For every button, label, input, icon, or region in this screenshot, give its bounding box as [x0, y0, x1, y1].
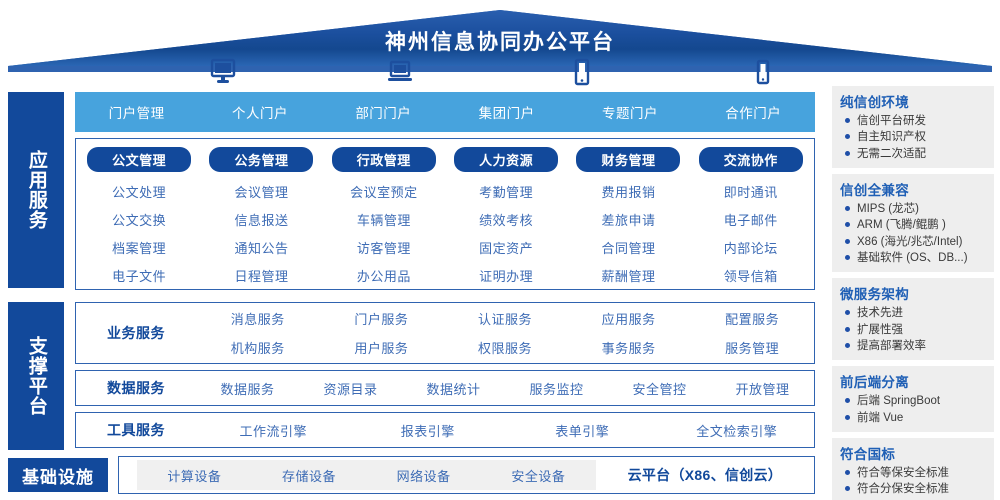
module-item[interactable]: 考勤管理 — [479, 179, 533, 207]
rail-infrastructure: 基础设施 — [8, 458, 108, 492]
rail-application-services: 应用服务 — [8, 92, 64, 288]
sidebar-card-pure-xinchuang: 纯信创环境 信创平台研发 自主知识产权 无需二次适配 — [832, 86, 994, 168]
bullet-icon — [845, 398, 850, 403]
module-header[interactable]: 公文管理 — [87, 147, 191, 172]
sidebar-item-label: 技术先进 — [857, 305, 903, 321]
sidebar-list-item: X86 (海光/兆芯/Intel) — [840, 234, 988, 250]
service-item[interactable]: 机构服务 — [196, 338, 320, 357]
module-item[interactable]: 会议管理 — [234, 179, 288, 207]
laptop-icon — [380, 58, 420, 90]
service-item[interactable]: 服务监控 — [505, 379, 608, 398]
module-column: 行政管理 会议室预定 车辆管理 访客管理 办公用品 — [323, 147, 445, 285]
application-modules-card: 公文管理 公文处理 公文交换 档案管理 电子文件 公务管理 会议管理 信息报送 … — [75, 138, 815, 290]
bullet-icon — [845, 118, 850, 123]
tool-services-label: 工具服务 — [76, 420, 196, 440]
feature-sidebar: 纯信创环境 信创平台研发 自主知识产权 无需二次适配 信创全兼容 MIPS (龙… — [832, 86, 994, 500]
sidebar-card-national-standard: 符合国标 符合等保安全标准 符合分保安全标准 — [832, 438, 994, 500]
portal-bar: 门户管理 个人门户 部门门户 集团门户 专题门户 合作门户 — [75, 92, 815, 132]
bullet-icon — [845, 206, 850, 211]
module-item[interactable]: 公文处理 — [112, 179, 166, 207]
module-item[interactable]: 即时通讯 — [724, 179, 778, 207]
module-column: 财务管理 费用报销 差旅申请 合同管理 薪酬管理 — [567, 147, 689, 285]
sidebar-list-item: 基础软件 (OS、DB...) — [840, 250, 988, 266]
sidebar-item-label: MIPS (龙芯) — [857, 201, 919, 217]
module-header[interactable]: 财务管理 — [576, 147, 680, 172]
service-item[interactable]: 应用服务 — [567, 309, 691, 328]
business-services-card: 业务服务 消息服务 门户服务 认证服务 应用服务 配置服务 机构服务 用户服务 … — [75, 302, 815, 364]
module-item[interactable]: 办公用品 — [357, 263, 411, 291]
rail-application-services-label: 应用服务 — [24, 150, 48, 230]
bullet-icon — [845, 151, 850, 156]
data-services-card: 数据服务 数据服务 资源目录 数据统计 服务监控 安全管控 开放管理 — [75, 370, 815, 406]
module-header[interactable]: 行政管理 — [332, 147, 436, 172]
bullet-icon — [845, 486, 850, 491]
sidebar-list-item: 无需二次适配 — [840, 146, 988, 162]
sidebar-item-label: 前端 Vue — [857, 410, 903, 426]
sidebar-list-item: 技术先进 — [840, 305, 988, 321]
module-item[interactable]: 薪酬管理 — [601, 263, 655, 291]
smartphone-icon — [743, 58, 783, 90]
module-item[interactable]: 合同管理 — [601, 235, 655, 263]
sidebar-card-title: 符合国标 — [840, 443, 988, 463]
sidebar-item-label: 自主知识产权 — [857, 129, 926, 145]
cloud-platform-label[interactable]: 云平台（X86、信创云） — [596, 457, 814, 493]
platform-architecture-diagram: 神州信息协同办公平台 — [0, 0, 1000, 500]
module-column: 公文管理 公文处理 公文交换 档案管理 电子文件 — [78, 147, 200, 285]
infrastructure-item[interactable]: 存储设备 — [252, 466, 367, 485]
infrastructure-item[interactable]: 网络设备 — [366, 466, 481, 485]
sidebar-card-microservice: 微服务架构 技术先进 扩展性强 提高部署效率 — [832, 278, 994, 360]
sidebar-card-title: 微服务架构 — [840, 283, 988, 303]
module-item[interactable]: 日程管理 — [234, 263, 288, 291]
business-services-row: 机构服务 用户服务 权限服务 事务服务 服务管理 — [196, 338, 814, 357]
business-services-row: 消息服务 门户服务 认证服务 应用服务 配置服务 — [196, 309, 814, 328]
service-item[interactable]: 资源目录 — [299, 379, 402, 398]
module-item[interactable]: 信息报送 — [234, 207, 288, 235]
page-title: 神州信息协同办公平台 — [0, 26, 1000, 56]
sidebar-list-item: 信创平台研发 — [840, 113, 988, 129]
sidebar-card-title: 纯信创环境 — [840, 91, 988, 111]
service-item[interactable]: 开放管理 — [711, 379, 814, 398]
module-item[interactable]: 差旅申请 — [601, 207, 655, 235]
sidebar-list-item: 前端 Vue — [840, 410, 988, 426]
sidebar-item-label: ARM (飞腾/鲲鹏 ) — [857, 217, 946, 233]
service-item[interactable]: 认证服务 — [443, 309, 567, 328]
sidebar-item-label: 提高部署效率 — [857, 338, 926, 354]
module-item[interactable]: 费用报销 — [601, 179, 655, 207]
service-item[interactable]: 配置服务 — [690, 309, 814, 328]
service-item[interactable]: 门户服务 — [320, 309, 444, 328]
sidebar-list-item: MIPS (龙芯) — [840, 201, 988, 217]
bullet-icon — [845, 343, 850, 348]
bullet-icon — [845, 222, 850, 227]
infrastructure-devices-group: 计算设备 存储设备 网络设备 安全设备 — [137, 460, 596, 490]
bullet-icon — [845, 255, 850, 260]
bullet-icon — [845, 310, 850, 315]
module-item[interactable]: 电子邮件 — [724, 207, 778, 235]
sidebar-card-title: 前后端分离 — [840, 371, 988, 391]
tablet-icon — [562, 58, 602, 90]
sidebar-list-item: 提高部署效率 — [840, 338, 988, 354]
service-item[interactable]: 全文检索引擎 — [660, 421, 815, 440]
service-item[interactable]: 数据统计 — [402, 379, 505, 398]
service-item[interactable]: 服务管理 — [690, 338, 814, 357]
module-item[interactable]: 电子文件 — [112, 263, 166, 291]
tool-services-card: 工具服务 工作流引擎 报表引擎 表单引擎 全文检索引擎 — [75, 412, 815, 448]
module-header[interactable]: 人力资源 — [454, 147, 558, 172]
sidebar-item-label: X86 (海光/兆芯/Intel) — [857, 234, 962, 250]
module-item[interactable]: 公文交换 — [112, 207, 166, 235]
sidebar-item-label: 基础软件 (OS、DB...) — [857, 250, 968, 266]
module-item[interactable]: 会议室预定 — [350, 179, 418, 207]
bullet-icon — [845, 415, 850, 420]
portal-item[interactable]: 集团门户 — [445, 102, 568, 122]
sidebar-card-frontend-backend-separation: 前后端分离 后端 SpringBoot 前端 Vue — [832, 366, 994, 432]
service-item[interactable]: 工作流引擎 — [196, 421, 351, 440]
device-icon-strip — [75, 58, 815, 90]
module-item[interactable]: 车辆管理 — [357, 207, 411, 235]
tool-services-row: 工作流引擎 报表引擎 表单引擎 全文检索引擎 — [196, 421, 814, 440]
sidebar-item-label: 扩展性强 — [857, 322, 903, 338]
infrastructure-item[interactable]: 安全设备 — [481, 466, 596, 485]
rail-support-platform: 支撑平台 — [8, 302, 64, 450]
sidebar-list-item: 自主知识产权 — [840, 129, 988, 145]
service-item[interactable]: 数据服务 — [196, 379, 299, 398]
module-header[interactable]: 交流协作 — [699, 147, 803, 172]
bullet-icon — [845, 239, 850, 244]
service-item[interactable]: 事务服务 — [567, 338, 691, 357]
portal-item[interactable]: 专题门户 — [568, 102, 691, 122]
data-services-row: 数据服务 资源目录 数据统计 服务监控 安全管控 开放管理 — [196, 379, 814, 398]
sidebar-item-label: 符合分保安全标准 — [857, 481, 949, 497]
service-item[interactable]: 报表引擎 — [351, 421, 506, 440]
module-column: 交流协作 即时通讯 电子邮件 内部论坛 领导信箱 — [690, 147, 812, 285]
bullet-icon — [845, 327, 850, 332]
sidebar-list-item: 符合等保安全标准 — [840, 465, 988, 481]
rail-infrastructure-label: 基础设施 — [22, 463, 94, 488]
module-column: 人力资源 考勤管理 绩效考核 固定资产 证明办理 — [445, 147, 567, 285]
service-item[interactable]: 表单引擎 — [505, 421, 660, 440]
data-services-label: 数据服务 — [76, 378, 196, 398]
sidebar-card-title: 信创全兼容 — [840, 179, 988, 199]
module-item[interactable]: 档案管理 — [112, 235, 166, 263]
module-item[interactable]: 内部论坛 — [724, 235, 778, 263]
sidebar-item-label: 信创平台研发 — [857, 113, 926, 129]
service-item[interactable]: 消息服务 — [196, 309, 320, 328]
module-column: 公务管理 会议管理 信息报送 通知公告 日程管理 — [200, 147, 322, 285]
infrastructure-item[interactable]: 计算设备 — [137, 466, 252, 485]
portal-item[interactable]: 门户管理 — [75, 102, 198, 122]
sidebar-list-item: ARM (飞腾/鲲鹏 ) — [840, 217, 988, 233]
module-item[interactable]: 访客管理 — [357, 235, 411, 263]
sidebar-card-full-compatibility: 信创全兼容 MIPS (龙芯) ARM (飞腾/鲲鹏 ) X86 (海光/兆芯/… — [832, 174, 994, 272]
sidebar-list-item: 符合分保安全标准 — [840, 481, 988, 497]
service-item[interactable]: 安全管控 — [608, 379, 711, 398]
sidebar-list-item: 扩展性强 — [840, 322, 988, 338]
module-item[interactable]: 证明办理 — [479, 263, 533, 291]
rail-support-platform-label: 支撑平台 — [24, 336, 48, 416]
module-item[interactable]: 通知公告 — [234, 235, 288, 263]
bullet-icon — [845, 470, 850, 475]
portal-item[interactable]: 合作门户 — [692, 102, 815, 122]
service-item[interactable]: 权限服务 — [443, 338, 567, 357]
desktop-monitor-icon — [203, 58, 243, 90]
sidebar-list-item: 后端 SpringBoot — [840, 393, 988, 409]
sidebar-item-label: 后端 SpringBoot — [857, 393, 940, 409]
business-services-label: 业务服务 — [76, 323, 196, 343]
module-item[interactable]: 固定资产 — [479, 235, 533, 263]
sidebar-item-label: 符合等保安全标准 — [857, 465, 949, 481]
module-item[interactable]: 绩效考核 — [479, 207, 533, 235]
sidebar-item-label: 无需二次适配 — [857, 146, 926, 162]
bullet-icon — [845, 134, 850, 139]
portal-item[interactable]: 部门门户 — [322, 102, 445, 122]
module-item[interactable]: 领导信箱 — [724, 263, 778, 291]
service-item[interactable]: 用户服务 — [320, 338, 444, 357]
module-header[interactable]: 公务管理 — [209, 147, 313, 172]
portal-item[interactable]: 个人门户 — [198, 102, 321, 122]
infrastructure-card: 计算设备 存储设备 网络设备 安全设备 云平台（X86、信创云） — [118, 456, 815, 494]
